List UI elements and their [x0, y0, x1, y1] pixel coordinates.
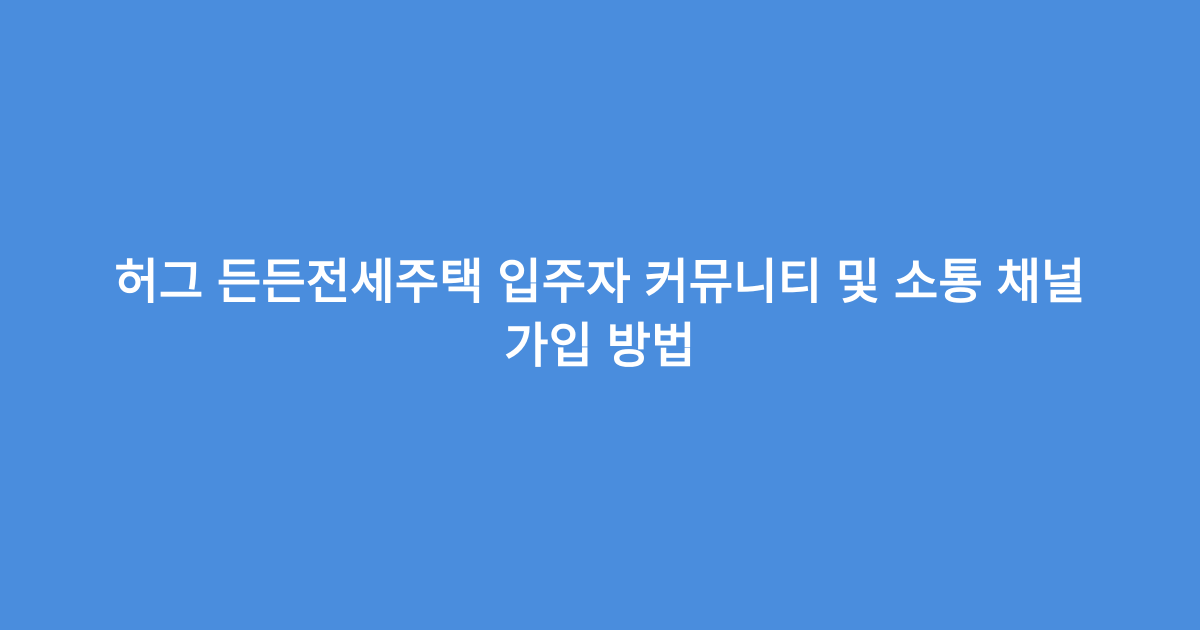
title-block: 허그 든든전세주택 입주자 커뮤니티 및 소통 채널 가입 방법 — [40, 251, 1160, 379]
page-title: 허그 든든전세주택 입주자 커뮤니티 및 소통 채널 가입 방법 — [52, 251, 1148, 379]
share-card: 허그 든든전세주택 입주자 커뮤니티 및 소통 채널 가입 방법 — [0, 0, 1200, 630]
